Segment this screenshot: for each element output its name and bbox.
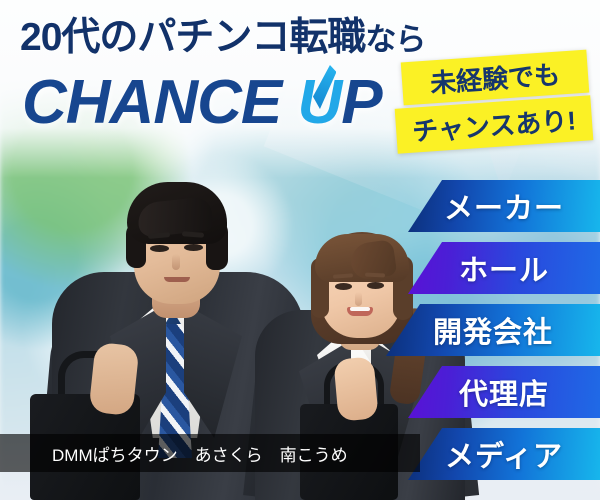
credit-caption-text: DMMぱちタウン あさくら 南こうめ: [0, 441, 348, 466]
category-button-1[interactable]: ホール: [408, 242, 600, 294]
logo-chance-text: CHANCE: [22, 68, 297, 137]
headline: 20代のパチンコ転職なら: [20, 18, 425, 57]
badge-line-2: チャンスあり!: [395, 95, 594, 154]
credit-caption: DMMぱちタウン あさくら 南こうめ: [0, 434, 420, 472]
logo-up-group: UP: [297, 72, 381, 134]
inexperienced-welcome-badge: 未経験でも チャンスあり!: [396, 56, 594, 156]
logo-letter-p: P: [341, 68, 381, 137]
headline-main: 20代のパチンコ転職: [20, 16, 365, 59]
category-button-3[interactable]: 代理店: [408, 366, 600, 418]
category-button-0[interactable]: メーカー: [408, 180, 600, 232]
recruitment-banner: 20代のパチンコ転職なら CHANCE UP 未経験でも チャンスあり! メーカ…: [0, 0, 600, 500]
headline-tail: なら: [365, 22, 425, 57]
category-button-4[interactable]: メディア: [408, 428, 600, 480]
category-button-2[interactable]: 開発会社: [386, 304, 600, 356]
chance-up-logo: CHANCE UP: [22, 72, 382, 134]
